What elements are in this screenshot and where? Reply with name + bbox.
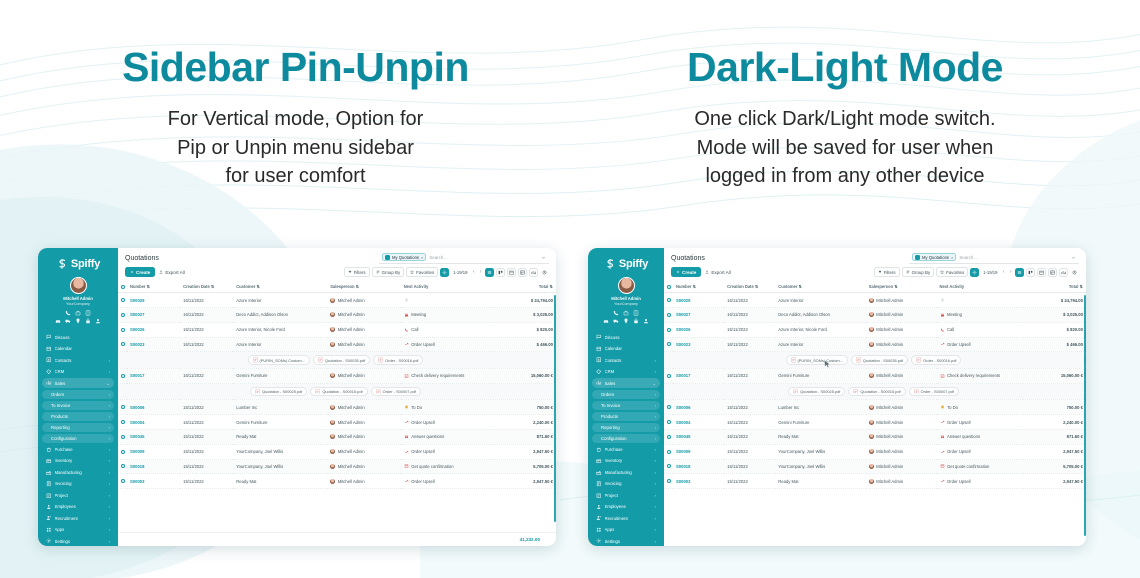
sidebar-item-inventory[interactable]: Inventory›	[42, 456, 114, 466]
order-number[interactable]: S00027	[130, 312, 144, 317]
cell-customer: Ready Mat	[233, 430, 327, 445]
checkbox-icon	[667, 405, 671, 409]
table-row[interactable]: S0000915/11/2022YourCompany, Joel Willis…	[118, 444, 556, 459]
attachment-name: Quotation - S00015.pdf	[860, 389, 900, 394]
cell-next-activity: To Do	[937, 400, 1024, 415]
user-avatar[interactable]	[70, 277, 87, 294]
vertical-scrollbar[interactable]	[554, 295, 556, 522]
total-amount: $ 466.00	[1067, 342, 1083, 347]
cell-salesperson: Mitchell Admin	[327, 337, 401, 352]
upsell-icon	[940, 420, 945, 424]
attachment-name: Quotation - S00035.pdf	[863, 358, 903, 363]
order-number[interactable]: S00017	[676, 373, 690, 378]
car-icon[interactable]	[55, 318, 61, 324]
row-checkbox[interactable]	[118, 337, 127, 352]
graph-view-button[interactable]	[529, 268, 538, 277]
create-button[interactable]: Create	[125, 267, 155, 276]
table-row[interactable]: S0001815/11/2022YourCompany, Joel Willis…	[118, 459, 556, 474]
table-row[interactable]: S0001716/11/2022Gemini FurnitureMitchell…	[664, 369, 1086, 384]
sidebar-item-label: Settings	[55, 539, 106, 544]
pdf-file-icon	[853, 389, 858, 395]
total-amount: 750.00 €	[1067, 405, 1083, 410]
cell-salesperson: Mitchell Admin	[866, 400, 937, 415]
create-button-label: Create	[136, 270, 150, 275]
avatar	[869, 373, 874, 378]
order-number[interactable]: S00017	[130, 373, 144, 378]
phone-icon[interactable]	[65, 310, 71, 316]
truck-icon[interactable]	[613, 318, 619, 324]
favorites-button[interactable]: Favorites	[406, 267, 438, 277]
cell-total: 5,705.00 €	[1023, 459, 1086, 474]
row-checkbox[interactable]	[664, 415, 673, 430]
pager-prev-button[interactable]: ‹	[1001, 269, 1006, 275]
cell-customer: Azure Interior, Nicole Ford	[233, 322, 327, 337]
salesperson-name: Mitchell Admin	[876, 342, 903, 347]
attachment-row[interactable]: (PURIN_SOMs) Custom...Quotation - S00035…	[664, 352, 1086, 369]
cell-next-activity: Order Upsell	[401, 337, 491, 352]
row-checkbox[interactable]	[118, 400, 127, 415]
attachment-row[interactable]: (PURIN_SOMs) Custom...Quotation - S00035…	[118, 352, 556, 369]
table-row[interactable]: S0000615/11/2022Lumber IncMitchell Admin…	[664, 400, 1086, 415]
activity-label: Order Upsell	[947, 449, 971, 454]
row-checkbox[interactable]	[664, 459, 673, 474]
chevron-right-icon: ›	[655, 539, 656, 544]
attachment-chip[interactable]: Quotation - S00035.pdf	[851, 355, 908, 365]
row-checkbox[interactable]	[664, 322, 673, 337]
checkbox-icon	[121, 405, 125, 409]
brand-logo-right[interactable]: Spiffy	[592, 253, 660, 274]
attachment-chip[interactable]: (PURIN_SOMs) Custom...	[248, 355, 310, 365]
sidebar-item-calendar[interactable]: Calendar	[592, 344, 660, 354]
column-header-number[interactable]: Number ⇅	[673, 281, 724, 293]
customer-name: Azure Interior, Nicole Ford	[778, 327, 827, 332]
user-avatar[interactable]	[618, 277, 635, 294]
column-header-next-activity[interactable]: Next Activity	[937, 281, 1024, 293]
sidebar-item-sales[interactable]: Sales⌄	[592, 378, 660, 388]
attachment-chip[interactable]: Quotation - S00015.pdf	[310, 387, 367, 397]
order-number[interactable]: S00023	[676, 342, 690, 347]
cell-next-activity: Order Upsell	[937, 474, 1024, 489]
plus-icon	[676, 270, 680, 274]
table-row[interactable]: S0002716/11/2022Deco Addict, Addison Ols…	[118, 307, 556, 322]
kanban-view-button[interactable]	[496, 268, 505, 277]
row-checkbox[interactable]	[118, 307, 127, 322]
favorites-button[interactable]: Favorites	[936, 267, 968, 277]
row-checkbox[interactable]	[118, 430, 127, 445]
cell-next-activity: Meeting	[401, 307, 491, 322]
row-checkbox[interactable]	[664, 430, 673, 445]
sidebar-item-calendar[interactable]: Calendar	[42, 344, 114, 354]
cell-creation-date: 16/11/2022	[180, 293, 233, 308]
cell-number: S00045	[127, 430, 180, 445]
total-amount: $ 24,794.00	[1061, 298, 1083, 303]
order-number[interactable]: S00026	[676, 327, 690, 332]
cell-number: S00045	[673, 430, 724, 445]
row-checkbox[interactable]	[664, 474, 673, 489]
chevron-right-icon: ›	[109, 470, 110, 475]
order-number[interactable]: S00009	[676, 449, 690, 454]
export-all-label: Export All	[165, 270, 184, 275]
table-row[interactable]: S0001716/11/2022Gemini FurnitureMitchell…	[118, 369, 556, 384]
user-icon[interactable]	[643, 318, 649, 324]
sidebar-item-purchase[interactable]: Purchase›	[42, 444, 114, 454]
creation-date: 15/11/2022	[183, 420, 204, 425]
table-row[interactable]: S0004515/11/2022Ready MatMitchell AdminA…	[118, 430, 556, 445]
creation-date: 15/11/2022	[727, 479, 748, 484]
cell-salesperson: Mitchell Admin	[327, 415, 401, 430]
attachment-chip[interactable]: Quotation - S00025.pdf	[250, 387, 307, 397]
sidebar-item-reporting[interactable]: Reporting›	[42, 423, 114, 432]
total-amount: $ 466.00	[537, 342, 553, 347]
export-icon	[705, 270, 709, 274]
table-row[interactable]: S0002916/11/2022Azure InteriorMitchell A…	[664, 293, 1086, 308]
pin-icon[interactable]	[75, 318, 81, 324]
attachment-name: Order - S00016.pdf	[923, 358, 956, 363]
activity-label: Call	[947, 327, 954, 332]
export-all-button[interactable]: Export All	[705, 270, 730, 275]
creation-date: 15/11/2022	[727, 420, 748, 425]
cell-customer: YourCompany, Joel Willis	[775, 444, 865, 459]
user-company: YourCompany	[42, 302, 114, 306]
chevron-down-icon[interactable]	[541, 255, 546, 260]
sidebar-item-to-invoice[interactable]: To Invoice›	[592, 401, 660, 410]
search-facet[interactable]: My Quotations ×	[382, 253, 426, 261]
chevron-right-icon: ›	[655, 527, 656, 532]
order-number[interactable]: S00004	[130, 420, 144, 425]
activity-label: Order Upsell	[947, 420, 971, 425]
close-icon[interactable]: ×	[951, 255, 953, 260]
export-all-button[interactable]: Export All	[159, 270, 184, 275]
sidebar-item-settings[interactable]: Settings›	[592, 536, 660, 546]
creation-date: 15/11/2022	[183, 405, 204, 410]
sidebar-item-to-invoice[interactable]: To Invoice›	[42, 401, 114, 410]
cell-next-activity: Order Upsell	[937, 415, 1024, 430]
search-input[interactable]: My Quotations × Search...	[379, 252, 549, 264]
gear-icon	[442, 270, 447, 275]
attachment-chip[interactable]: (PURIN_SOMs) Custom...	[786, 355, 848, 365]
avatar	[869, 479, 874, 484]
sidebar-item-products[interactable]: Products›	[42, 412, 114, 421]
column-header-customer[interactable]: Customer ⇅	[233, 281, 327, 293]
upsell-icon	[940, 342, 945, 346]
sidebar-item-crm[interactable]: CRM›	[42, 367, 114, 377]
sidebar-item-manufacturing[interactable]: Manufacturing›	[42, 467, 114, 477]
pdf-file-icon	[914, 389, 919, 395]
kanban-view-button[interactable]	[1026, 268, 1035, 277]
sidebar-item-label: Project	[605, 493, 652, 498]
graph-view-button[interactable]	[1059, 268, 1068, 277]
check-icon	[404, 374, 409, 378]
group-by-button[interactable]: Group By	[372, 267, 405, 277]
cell-salesperson: Mitchell Admin	[327, 322, 401, 337]
table-row[interactable]: S0000615/11/2022Lumber IncMitchell Admin…	[118, 400, 556, 415]
row-checkbox[interactable]	[118, 444, 127, 459]
pin-icon[interactable]	[623, 318, 629, 324]
column-header-salesperson[interactable]: Salesperson ⇅	[866, 281, 937, 293]
sidebar-item-label: Products	[51, 414, 106, 419]
row-checkbox[interactable]	[664, 337, 673, 352]
attachment-chip[interactable]: Order - S00016.pdf	[911, 355, 961, 365]
apps-icon	[596, 527, 602, 533]
sidebar-item-apps[interactable]: Apps›	[592, 525, 660, 535]
plus-icon	[130, 270, 134, 274]
chevron-right-icon: ›	[109, 539, 110, 544]
order-number[interactable]: S00003	[676, 479, 690, 484]
table-row[interactable]: S0000315/11/2022Ready MatMitchell AdminO…	[118, 474, 556, 489]
row-checkbox[interactable]	[118, 293, 127, 308]
table-row[interactable]: S0001815/11/2022YourCompany, Joel Willis…	[664, 459, 1086, 474]
sidebar-item-project[interactable]: Project›	[592, 490, 660, 500]
creation-date: 16/11/2022	[183, 312, 204, 317]
column-header-number[interactable]: Number ⇅	[127, 281, 180, 293]
chevron-right-icon: ›	[109, 436, 110, 441]
cell-number: S00026	[673, 322, 724, 337]
chevron-right-icon: ›	[655, 493, 656, 498]
sidebar-menu-left: DiscussCalendarContacts›CRM›Sales⌄Orders…	[42, 332, 114, 546]
sidebar-item-settings[interactable]: Settings›	[42, 536, 114, 546]
sidebar-item-orders[interactable]: Orders›	[592, 390, 660, 399]
sidebar-item-purchase[interactable]: Purchase›	[592, 444, 660, 454]
sidebar-item-crm[interactable]: CRM›	[592, 367, 660, 377]
row-checkbox[interactable]	[118, 415, 127, 430]
settings-toolbar-button[interactable]	[440, 268, 449, 277]
column-header-total[interactable]: Total ⇅	[491, 281, 556, 293]
sidebar-item-products[interactable]: Products›	[592, 412, 660, 421]
sidebar-item-label: To Invoice	[601, 403, 652, 408]
avatar	[869, 312, 874, 317]
sidebar-item-label: Employees	[605, 504, 652, 509]
attachment-chip[interactable]: Order - S00007.pdf	[909, 387, 959, 397]
order-number[interactable]: S00006	[130, 405, 144, 410]
sidebar-item-sales[interactable]: Sales⌄	[42, 378, 114, 388]
filters-button[interactable]: Filters	[344, 267, 370, 277]
phone-icon[interactable]	[613, 310, 619, 316]
calendar-view-button[interactable]	[507, 268, 516, 277]
attachment-chip[interactable]: Quotation - S00015.pdf	[848, 387, 905, 397]
pivot-view-button[interactable]	[518, 268, 527, 277]
bag-icon[interactable]	[75, 310, 81, 316]
attachment-chip[interactable]: Quotation - S00035.pdf	[313, 355, 370, 365]
right-app-screenshot: Spiffy Mitchell Admin YourCompany Discus…	[588, 248, 1086, 546]
order-number[interactable]: S00029	[676, 298, 690, 303]
calculator-icon[interactable]	[633, 310, 639, 316]
car-icon[interactable]	[603, 318, 609, 324]
activity-label: Meeting	[947, 312, 962, 317]
activity-label: Answer questions	[947, 434, 980, 439]
attachment-row[interactable]: Quotation - S00025.pdfQuotation - S00015…	[118, 383, 556, 400]
sidebar-item-apps[interactable]: Apps›	[42, 525, 114, 535]
avatar	[330, 312, 335, 317]
avatar	[330, 405, 335, 410]
quick-icons-row-2	[42, 318, 114, 324]
order-number[interactable]: S00004	[676, 420, 690, 425]
table-row[interactable]: S0002616/11/2022Azure Interior, Nicole F…	[118, 322, 556, 337]
cell-next-activity: Order Upsell	[401, 474, 491, 489]
cell-next-activity: Meeting	[937, 307, 1024, 322]
sidebar-item-inventory[interactable]: Inventory›	[592, 456, 660, 466]
row-checkbox[interactable]	[118, 369, 127, 384]
page-title: Quotations	[125, 255, 159, 262]
sidebar-item-contacts[interactable]: Contacts›	[42, 355, 114, 365]
attachment-chip[interactable]: Order - S00016.pdf	[373, 355, 423, 365]
table-row[interactable]: S0002616/11/2022Azure Interior, Nicole F…	[664, 322, 1086, 337]
attachment-row[interactable]: Quotation - S00025.pdfQuotation - S00015…	[664, 383, 1086, 400]
order-number[interactable]: S00009	[130, 449, 144, 454]
order-number[interactable]: S00018	[130, 464, 144, 469]
sidebar-item-orders[interactable]: Orders›	[42, 390, 114, 399]
pager-next-button[interactable]: ›	[478, 269, 483, 275]
column-header-creation-date[interactable]: Creation Date ⇅	[724, 281, 775, 293]
attachment-chip[interactable]: Quotation - S00025.pdf	[788, 387, 845, 397]
create-button[interactable]: Create	[671, 267, 701, 276]
sidebar-item-configuration[interactable]: Configuration›	[42, 434, 114, 443]
order-number[interactable]: S00029	[130, 298, 144, 303]
control-panel-top-row: Quotations My Quotations × Search...	[125, 252, 549, 264]
activity-view-button[interactable]	[540, 268, 549, 277]
order-number[interactable]: S00027	[676, 312, 690, 317]
row-checkbox[interactable]	[118, 322, 127, 337]
sidebar-item-configuration[interactable]: Configuration›	[592, 434, 660, 443]
chevron-right-icon: ›	[655, 516, 656, 521]
crm-icon	[596, 369, 602, 375]
create-button-label: Create	[682, 270, 696, 275]
call-icon	[940, 328, 945, 332]
sidebar-item-recruitment[interactable]: Recruitment›	[42, 513, 114, 523]
select-all-checkbox[interactable]	[664, 281, 673, 293]
chevron-right-icon: ›	[655, 458, 656, 463]
list-view-button[interactable]	[1015, 268, 1024, 277]
pivot-view-button[interactable]	[1048, 268, 1057, 277]
column-header-customer[interactable]: Customer ⇅	[775, 281, 865, 293]
calendar-view-icon	[509, 270, 514, 275]
settings-toolbar-button[interactable]	[970, 268, 979, 277]
user-icon[interactable]	[95, 318, 101, 324]
calendar-view-button[interactable]	[1037, 268, 1046, 277]
order-number[interactable]: S00045	[676, 434, 690, 439]
order-number[interactable]: S00003	[130, 479, 144, 484]
total-amount: 5,705.00 €	[533, 464, 553, 469]
sidebar-item-contacts[interactable]: Contacts›	[592, 355, 660, 365]
select-all-checkbox[interactable]	[118, 281, 127, 293]
close-icon[interactable]: ×	[421, 255, 423, 260]
sidebar-item-employees[interactable]: Employees›	[592, 502, 660, 512]
order-number[interactable]: S00045	[130, 434, 144, 439]
bag-icon[interactable]	[623, 310, 629, 316]
sidebar-item-employees[interactable]: Employees›	[42, 502, 114, 512]
table-row[interactable]: S0000415/11/2022Gemini FurnitureMitchell…	[118, 415, 556, 430]
column-header-salesperson[interactable]: Salesperson ⇅	[327, 281, 401, 293]
column-header-total[interactable]: Total ⇅	[1023, 281, 1086, 293]
quick-icons-row-1	[42, 310, 114, 316]
row-checkbox[interactable]	[664, 400, 673, 415]
cell-creation-date: 16/11/2022	[180, 322, 233, 337]
total-amount: $ 24,794.00	[531, 298, 553, 303]
sidebar-item-label: Purchase	[605, 447, 652, 452]
table-row[interactable]: S0000915/11/2022YourCompany, Joel Willis…	[664, 444, 1086, 459]
table-row[interactable]: S0002916/11/2022Azure InteriorMitchell A…	[118, 293, 556, 308]
pager-prev-button[interactable]: ‹	[471, 269, 476, 275]
activity-label: Order Upsell	[411, 342, 435, 347]
sidebar-item-recruitment[interactable]: Recruitment›	[592, 513, 660, 523]
column-header-creation-date[interactable]: Creation Date ⇅	[180, 281, 233, 293]
column-header-next-activity[interactable]: Next Activity	[401, 281, 491, 293]
customer-name: Gemini Furniture	[236, 420, 267, 425]
sidebar-item-discuss[interactable]: Discuss	[592, 332, 660, 342]
total-amount: 750.00 €	[537, 405, 553, 410]
cell-creation-date: 15/11/2022	[724, 459, 775, 474]
calendar-view-icon	[1039, 270, 1044, 275]
sidebar-item-discuss[interactable]: Discuss	[42, 332, 114, 342]
chevron-right-icon: ›	[655, 392, 656, 397]
avatar	[330, 434, 335, 439]
row-checkbox[interactable]	[664, 369, 673, 384]
activity-view-button[interactable]	[1070, 268, 1079, 277]
sidebar-item-invoicing[interactable]: Invoicing›	[42, 479, 114, 489]
cell-number: S00017	[127, 369, 180, 384]
sidebar-item-reporting[interactable]: Reporting›	[592, 423, 660, 432]
order-number[interactable]: S00023	[130, 342, 144, 347]
search-facet[interactable]: My Quotations ×	[912, 253, 956, 261]
table-row[interactable]: S0000315/11/2022Ready MatMitchell AdminO…	[664, 474, 1086, 489]
table-row[interactable]: S0002316/11/2022Azure InteriorMitchell A…	[664, 337, 1086, 352]
row-checkbox[interactable]	[664, 293, 673, 308]
brand-logo[interactable]: Spiffy	[42, 253, 114, 274]
salesperson-name: Mitchell Admin	[338, 312, 365, 317]
pager-next-button[interactable]: ›	[1008, 269, 1013, 275]
quick-icons-row-2	[592, 318, 660, 324]
cell-creation-date: 16/11/2022	[180, 337, 233, 352]
main-content-left: Quotations My Quotations × Search...	[118, 248, 556, 546]
sidebar-left: Spiffy Mitchell Admin YourCompany Discus…	[38, 248, 118, 546]
row-checkbox[interactable]	[118, 474, 127, 489]
search-input[interactable]: My Quotations × Search...	[909, 252, 1079, 264]
calculator-icon[interactable]	[85, 310, 91, 316]
control-panel-right: Quotations My Quotations × Search...	[664, 248, 1086, 281]
truck-icon[interactable]	[65, 318, 71, 324]
sidebar-item-manufacturing[interactable]: Manufacturing›	[592, 467, 660, 477]
table-row[interactable]: S0004515/11/2022Ready MatMitchell AdminA…	[664, 430, 1086, 445]
clock-icon	[404, 298, 409, 302]
cell-creation-date: 16/11/2022	[180, 369, 233, 384]
salesperson-name: Mitchell Admin	[876, 464, 903, 469]
order-number[interactable]: S00026	[130, 327, 144, 332]
row-checkbox[interactable]	[664, 444, 673, 459]
customer-name: Ready Mat	[236, 434, 256, 439]
sidebar-item-project[interactable]: Project›	[42, 490, 114, 500]
salesperson-name: Mitchell Admin	[338, 434, 365, 439]
lock-icon[interactable]	[85, 318, 91, 324]
table-row[interactable]: S0002316/11/2022Azure InteriorMitchell A…	[118, 337, 556, 352]
lock-icon[interactable]	[633, 318, 639, 324]
attachment-chip[interactable]: Order - S00007.pdf	[371, 387, 421, 397]
table-row[interactable]: S0000415/11/2022Gemini FurnitureMitchell…	[664, 415, 1086, 430]
action-buttons: Create Export All	[125, 267, 185, 276]
row-checkbox[interactable]	[118, 459, 127, 474]
cell-creation-date: 15/11/2022	[180, 459, 233, 474]
order-number[interactable]: S00018	[676, 464, 690, 469]
list-view-button[interactable]	[485, 268, 494, 277]
sidebar-item-invoicing[interactable]: Invoicing›	[592, 479, 660, 489]
cell-next-activity: Order Upsell	[937, 444, 1024, 459]
order-number[interactable]: S00006	[676, 405, 690, 410]
table-row[interactable]: S0002716/11/2022Deco Addict, Addison Ols…	[664, 307, 1086, 322]
apps-icon	[46, 527, 52, 533]
group-by-button[interactable]: Group By	[902, 267, 935, 277]
row-checkbox[interactable]	[664, 307, 673, 322]
avatar	[869, 464, 874, 469]
filters-button[interactable]: Filters	[874, 267, 900, 277]
chevron-down-icon[interactable]	[1071, 255, 1076, 260]
